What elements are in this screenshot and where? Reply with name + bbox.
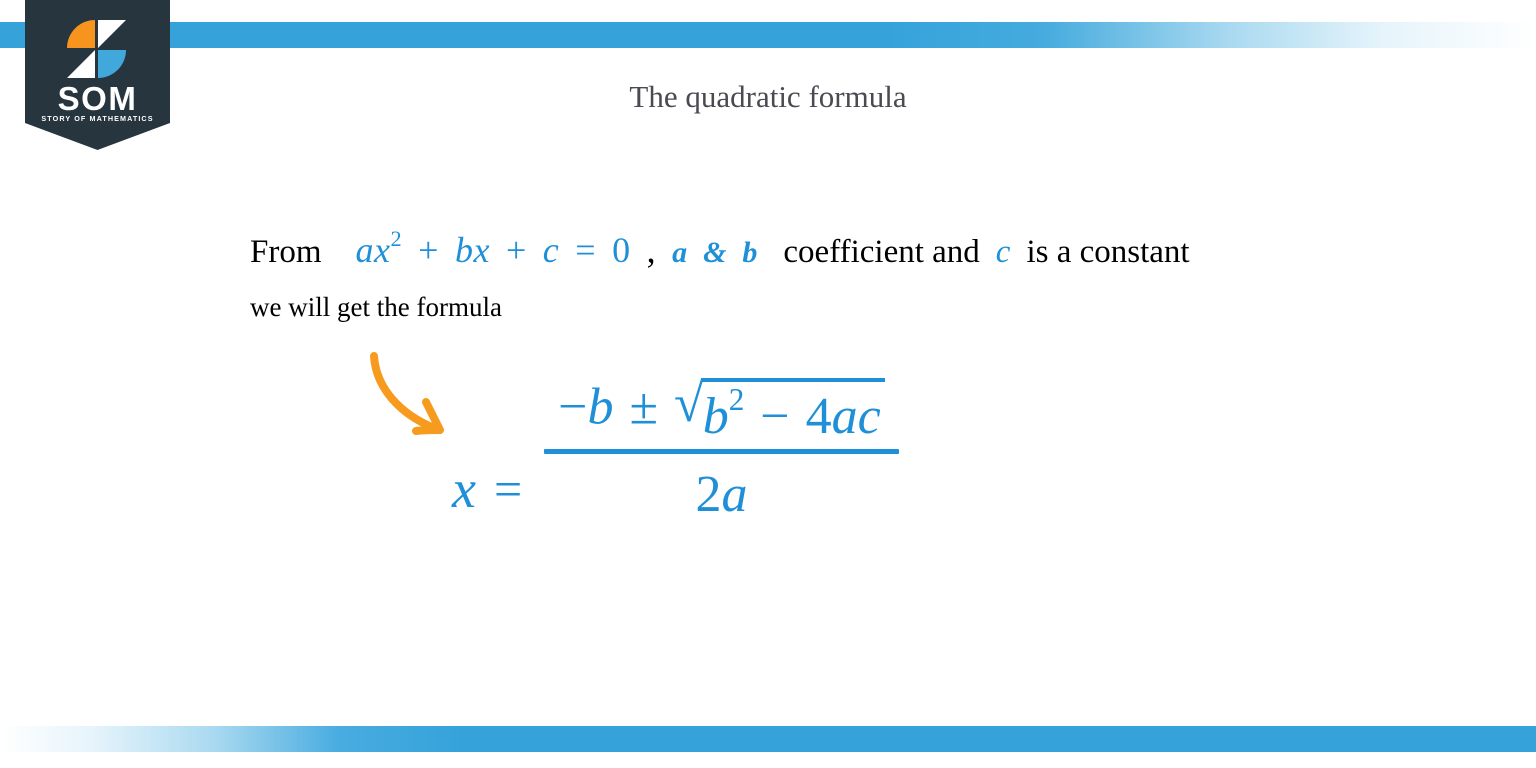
eq-zero: 0 bbox=[612, 230, 631, 270]
rad-four: 4 bbox=[806, 388, 832, 445]
formula-lhs-x: x bbox=[452, 386, 476, 520]
bottom-accent-bar bbox=[0, 726, 1536, 752]
rad-a: a bbox=[832, 388, 858, 445]
formula-numerator: −b±√b2−4ac bbox=[544, 378, 899, 449]
intro-lead: From bbox=[250, 234, 322, 270]
comma-separator: , bbox=[647, 230, 657, 270]
eq-const-c: c bbox=[543, 230, 559, 270]
top-accent-bar bbox=[0, 22, 1536, 48]
square-root-group: √b2−4ac bbox=[674, 378, 885, 445]
num-b: b bbox=[588, 379, 614, 436]
radical-sign-icon: √ bbox=[674, 376, 704, 443]
num-minus: − bbox=[558, 379, 587, 436]
rad-b: b bbox=[703, 388, 729, 445]
formula-intro-line: we will get the formula bbox=[250, 294, 502, 321]
eq-plus-1: + bbox=[418, 230, 439, 270]
eq-coef-b: b bbox=[455, 230, 474, 270]
logo-tagline: STORY OF MATHEMATICS bbox=[25, 115, 170, 122]
rad-c: c bbox=[858, 388, 881, 445]
var-c: c bbox=[996, 234, 1011, 270]
radicand: b2−4ac bbox=[701, 378, 885, 445]
eq-coef-a: a bbox=[356, 230, 375, 270]
eq-plus-2: + bbox=[506, 230, 527, 270]
var-a: a bbox=[672, 236, 687, 269]
var-b: b bbox=[742, 236, 757, 269]
eq-exponent-2: 2 bbox=[391, 226, 403, 251]
som-logo: SOM STORY OF MATHEMATICS bbox=[25, 0, 170, 150]
formula-equals: = bbox=[476, 388, 544, 518]
den-a: a bbox=[721, 466, 747, 523]
quadratic-formula: x = −b±√b2−4ac 2a bbox=[452, 378, 899, 527]
eq-equals: = bbox=[575, 230, 596, 270]
coefficient-text: coefficient and bbox=[783, 234, 979, 270]
inline-quadratic-equation: ax2+bx+c=0 bbox=[356, 230, 631, 270]
constant-text: is a constant bbox=[1026, 234, 1189, 270]
den-two: 2 bbox=[695, 466, 721, 523]
page-title: The quadratic formula bbox=[0, 79, 1536, 115]
formula-denominator: 2a bbox=[695, 454, 747, 527]
som-s-monogram-icon bbox=[65, 18, 129, 80]
num-plus-minus: ± bbox=[630, 379, 659, 436]
eq-var-x-2: x bbox=[473, 230, 489, 270]
eq-var-x: x bbox=[374, 230, 390, 270]
formula-fraction: −b±√b2−4ac 2a bbox=[544, 378, 899, 527]
rad-minus: − bbox=[760, 388, 789, 445]
intro-line: Fromax2+bx+c=0,a&bcoefficient andcis a c… bbox=[250, 228, 1190, 269]
ampersand-symbol: & bbox=[703, 236, 726, 269]
rad-exponent-2: 2 bbox=[729, 382, 745, 417]
